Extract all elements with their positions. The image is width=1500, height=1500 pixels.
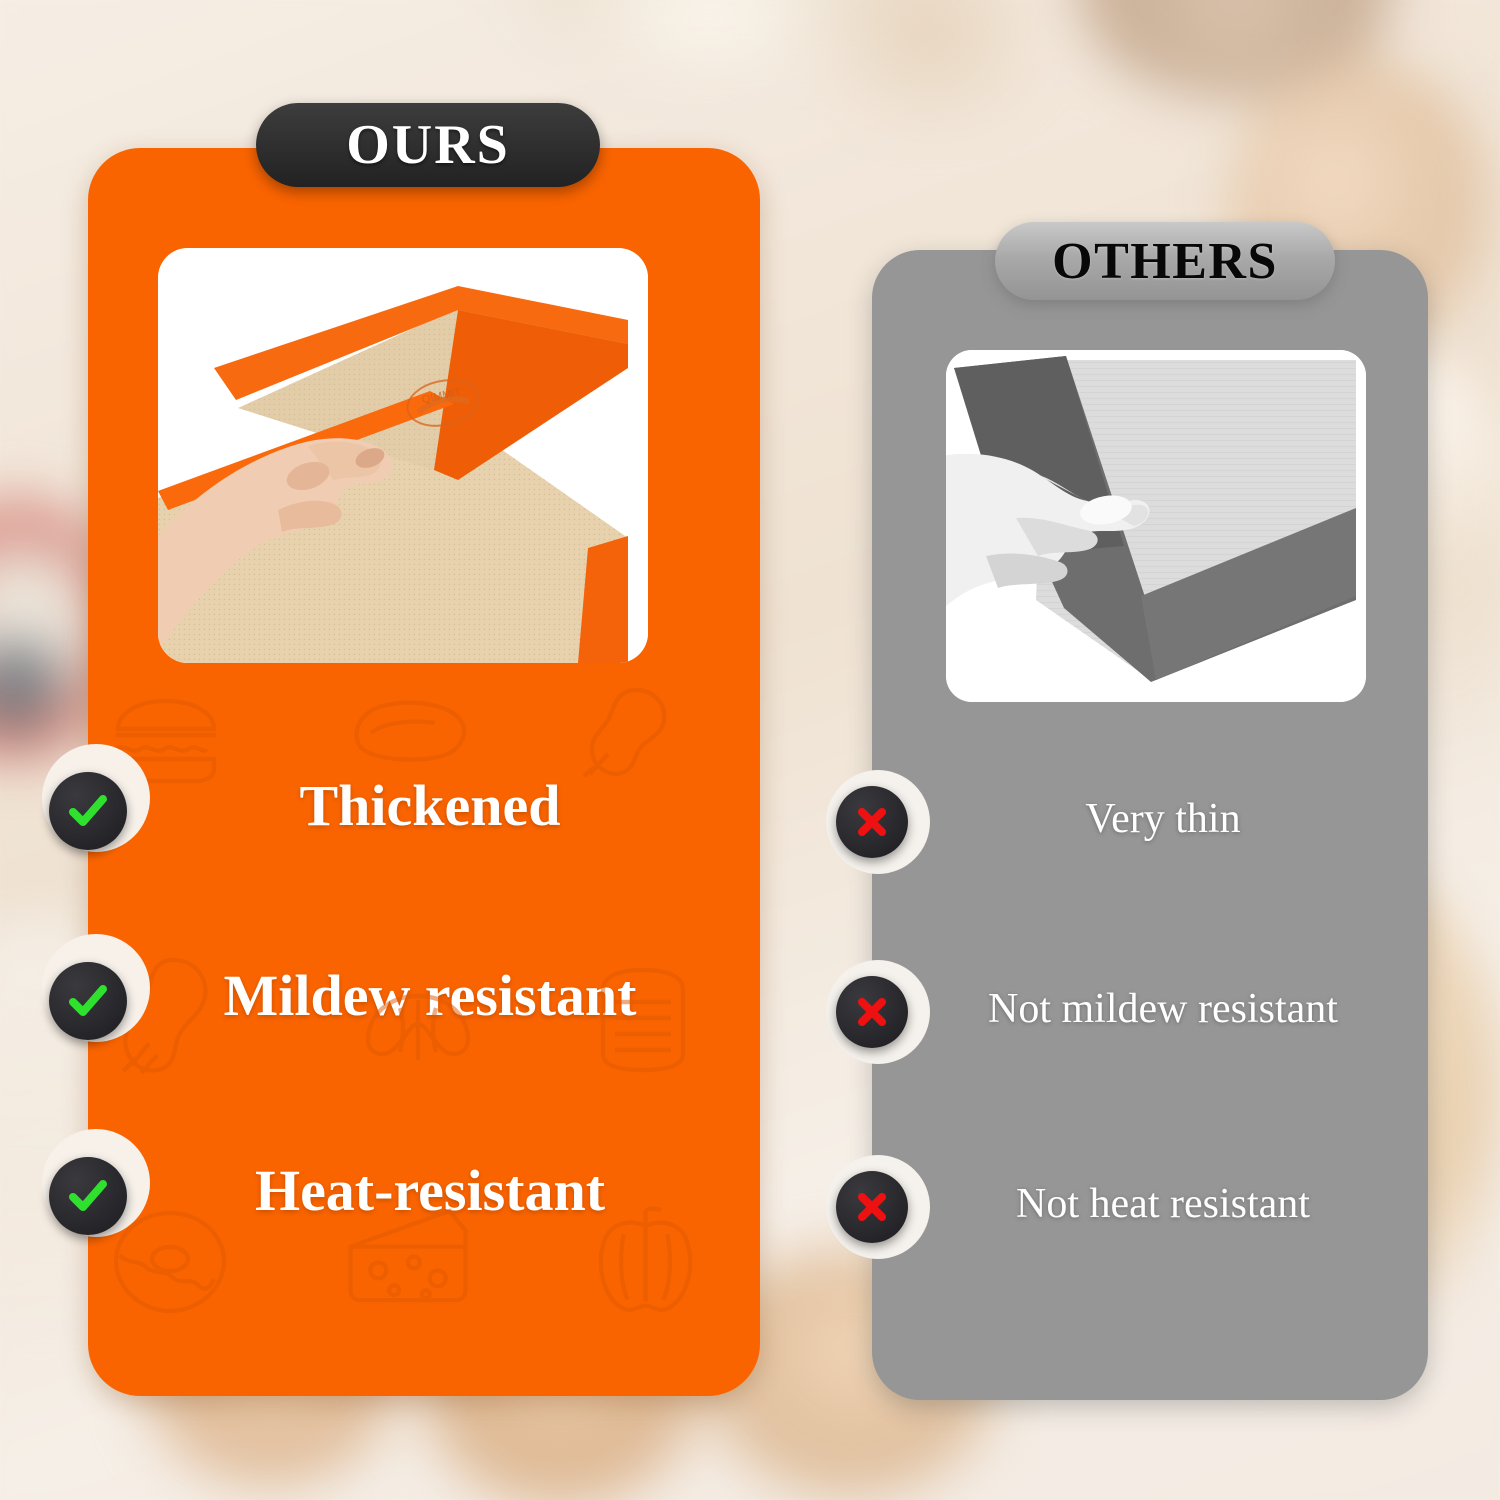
check-icon (63, 976, 113, 1026)
check-icon (63, 1171, 113, 1221)
cross-badge (836, 1171, 908, 1243)
others-title-badge: OTHERS (995, 222, 1335, 300)
ours-product-photo: QIMMIT (158, 248, 648, 663)
ours-comparison-panel: QIMMIT (88, 148, 760, 1396)
check-badge (49, 1157, 127, 1235)
others-product-photo (946, 350, 1366, 702)
cheese-wedge-icon (338, 1203, 478, 1318)
bread-slice-icon (583, 958, 703, 1078)
others-title-label: OTHERS (1052, 232, 1278, 291)
croissant-icon (348, 968, 488, 1078)
check-badge (49, 962, 127, 1040)
check-badge (49, 772, 127, 850)
bell-pepper-icon (588, 1198, 703, 1318)
ours-title-badge: OURS (256, 103, 600, 187)
cross-icon (851, 1186, 893, 1228)
others-feature-label: Not heat resistant (928, 1182, 1398, 1226)
cross-icon (851, 991, 893, 1033)
others-feature-label: Very thin (928, 797, 1398, 841)
chicken-leg-icon (568, 678, 678, 788)
cross-icon (851, 801, 893, 843)
ours-title-label: OURS (346, 113, 510, 177)
cross-badge (836, 976, 908, 1048)
others-feature-label: Not mildew resistant (928, 987, 1398, 1031)
cross-badge (836, 786, 908, 858)
check-icon (63, 786, 113, 836)
bread-loaf-icon (343, 693, 473, 773)
